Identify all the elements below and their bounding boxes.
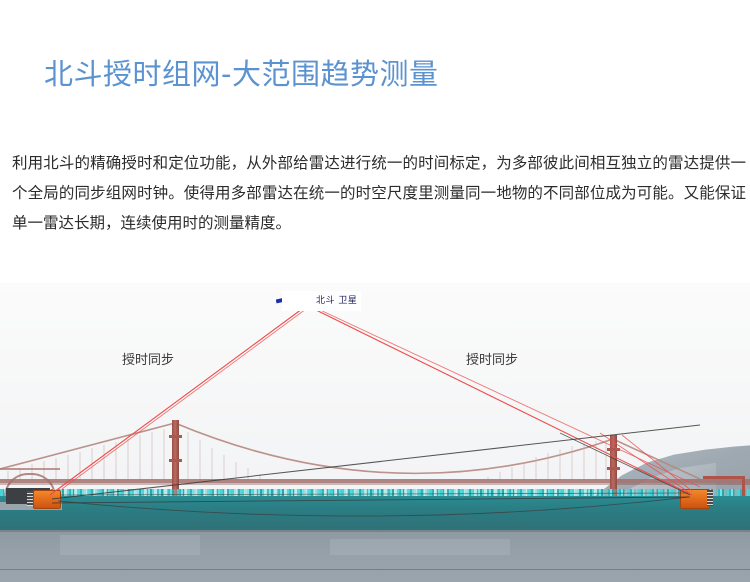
annotation-timing-sync-right: 授时同步 bbox=[466, 349, 518, 368]
illustration-figure: 北斗 卫星 授时同步 授时同步 bbox=[0, 283, 750, 582]
page-root: 北斗授时组网-大范围趋势测量 利用北斗的精确授时和定位功能，从外部给雷达进行统一… bbox=[0, 0, 750, 582]
measure-line-5 bbox=[560, 433, 690, 495]
satellite-label: 北斗 卫星 bbox=[282, 291, 361, 311]
measure-line-2 bbox=[52, 497, 690, 503]
measure-line-1 bbox=[52, 425, 700, 499]
signal-line-left bbox=[50, 309, 302, 495]
measure-line-3 bbox=[60, 493, 688, 495]
signal-line-right bbox=[314, 309, 692, 495]
signal-lines-svg bbox=[0, 283, 750, 582]
body-paragraph: 利用北斗的精确授时和定位功能，从外部给雷达进行统一的时间标定，为多部彼此间相互独… bbox=[12, 148, 746, 238]
page-title: 北斗授时组网-大范围趋势测量 bbox=[44, 55, 438, 93]
annotation-timing-sync-left: 授时同步 bbox=[122, 349, 174, 368]
